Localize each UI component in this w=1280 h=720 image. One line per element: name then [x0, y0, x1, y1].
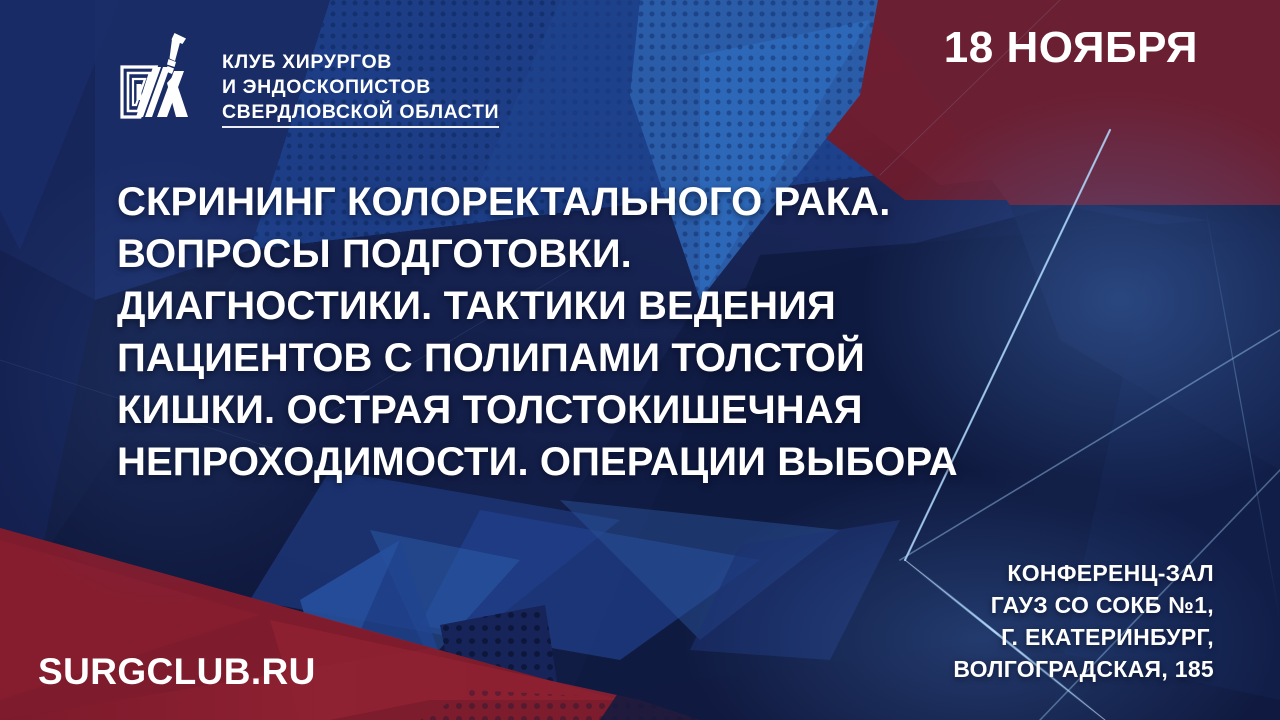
title-line: КИШКИ. ОСТРАЯ ТОЛСТОКИШЕЧНАЯ: [117, 384, 1017, 436]
event-date: 18 НОЯБРЯ: [944, 26, 1198, 70]
brand-name-line-3: СВЕРДЛОВСКОЙ ОБЛАСТИ: [222, 100, 499, 128]
logo-glyph: [112, 31, 208, 127]
website-url[interactable]: SURGCLUB.RU: [38, 653, 316, 690]
event-venue: КОНФЕРЕНЦ-ЗАЛ ГАУЗ СО СОКБ №1, Г. ЕКАТЕР…: [953, 557, 1214, 685]
venue-line: ВОЛГОГРАДСКАЯ, 185: [953, 653, 1214, 685]
title-line: НЕПРОХОДИМОСТИ. ОПЕРАЦИИ ВЫБОРА: [117, 436, 1017, 488]
title-line: СКРИНИНГ КОЛОРЕКТАЛЬНОГО РАКА.: [117, 176, 1017, 228]
title-line: ДИАГНОСТИКИ. ТАКТИКИ ВЕДЕНИЯ: [117, 280, 1017, 332]
brand-name: КЛУБ ХИРУРГОВ И ЭНДОСКОПИСТОВ СВЕРДЛОВСК…: [222, 48, 499, 128]
event-title: СКРИНИНГ КОЛОРЕКТАЛЬНОГО РАКА. ВОПРОСЫ П…: [117, 176, 1017, 488]
brand-name-line-2: И ЭНДОСКОПИСТОВ: [222, 75, 499, 100]
title-line: ВОПРОСЫ ПОДГОТОВКИ.: [117, 228, 1017, 280]
event-banner: КЛУБ ХИРУРГОВ И ЭНДОСКОПИСТОВ СВЕРДЛОВСК…: [0, 0, 1280, 720]
venue-line: ГАУЗ СО СОКБ №1,: [953, 589, 1214, 621]
venue-line: КОНФЕРЕНЦ-ЗАЛ: [953, 557, 1214, 589]
brand-name-line-1: КЛУБ ХИРУРГОВ: [222, 50, 499, 75]
venue-line: Г. ЕКАТЕРИНБУРГ,: [953, 621, 1214, 653]
surgery-club-monogram-icon: [112, 31, 208, 127]
title-line: ПАЦИЕНТОВ С ПОЛИПАМИ ТОЛСТОЙ: [117, 332, 1017, 384]
brand-logo-lockup: КЛУБ ХИРУРГОВ И ЭНДОСКОПИСТОВ СВЕРДЛОВСК…: [112, 48, 499, 128]
